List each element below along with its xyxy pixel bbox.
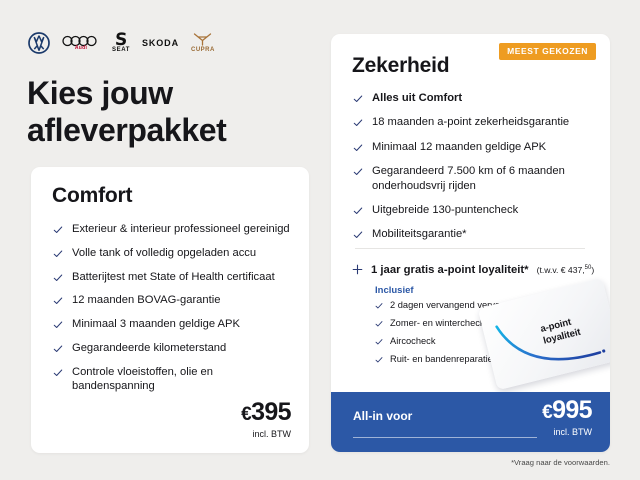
footer-rule	[353, 437, 537, 438]
comfort-card-title: Comfort	[52, 184, 132, 208]
plus-icon	[352, 262, 363, 273]
zekerheid-price-footer: All-in voor €995 incl. BTW	[331, 392, 610, 452]
loyalty-value-suffix: )	[591, 265, 594, 275]
allin-label: All-in voor	[353, 409, 412, 423]
zekerheid-package-card[interactable]: MEEST GEKOZEN Zekerheid Alles uit Comfor…	[331, 34, 610, 452]
list-item-label: Gegarandeerd 7.500 km of 6 maanden onder…	[372, 164, 595, 194]
list-item: Minimaal 3 maanden geldige APK	[53, 317, 291, 332]
zekerheid-price-block: €995 incl. BTW	[542, 398, 592, 437]
zekerheid-price-note: incl. BTW	[542, 427, 592, 437]
check-icon	[353, 118, 363, 128]
comfort-price: €395	[241, 400, 291, 425]
footnote: *Vraag naar de voorwaarden.	[511, 458, 610, 467]
list-item-label: Exterieur & interieur professioneel gere…	[72, 222, 290, 237]
currency-symbol: €	[241, 404, 251, 425]
loyalty-value-note: (t.w.v. € 437,50)	[537, 265, 595, 275]
check-icon	[353, 230, 363, 240]
check-icon	[375, 302, 383, 310]
check-icon	[375, 356, 383, 364]
comfort-price-amount: 395	[251, 398, 291, 426]
audi-wordmark: Audi	[75, 46, 87, 51]
list-item: Exterieur & interieur professioneel gere…	[53, 222, 291, 237]
list-item-label: Mobiliteitsgarantie*	[372, 227, 467, 242]
list-item: Volle tank of volledig opgeladen accu	[53, 246, 291, 261]
list-item-label: Minimaal 3 maanden geldige APK	[72, 317, 240, 332]
check-icon	[353, 143, 363, 153]
zekerheid-price: €995	[542, 398, 592, 423]
loyalty-card-graphic: a-point loyaliteit	[478, 278, 610, 390]
skoda-wordmark: SKODA	[142, 38, 179, 48]
list-item-label: Gegarandeerde kilometerstand	[72, 341, 226, 356]
volkswagen-logo	[28, 32, 50, 54]
page-title-line1: Kies jouw	[27, 75, 307, 112]
zekerheid-feature-list: Alles uit Comfort 18 maanden a-point zek…	[353, 91, 595, 251]
list-item: 18 maanden a-point zekerheidsgarantie	[353, 115, 595, 130]
seat-s-mark: S	[114, 33, 127, 47]
list-item-label: Batterijtest met State of Health certifi…	[72, 270, 275, 285]
inclusief-label: Inclusief	[375, 285, 414, 296]
list-item: Batterijtest met State of Health certifi…	[53, 270, 291, 285]
promo-poster: Audi S SEAT SKODA CUPRA Kies jouw afleve…	[0, 0, 640, 480]
page-title: Kies jouw afleverpakket	[27, 75, 307, 149]
list-item: Uitgebreide 130-puntencheck	[353, 203, 595, 218]
comfort-price-note: incl. BTW	[241, 429, 291, 439]
section-divider	[355, 248, 585, 249]
list-item: Mobiliteitsgarantie*	[353, 227, 595, 242]
check-icon	[353, 206, 363, 216]
comfort-package-card[interactable]: Comfort Exterieur & interieur profession…	[31, 167, 309, 453]
list-item-label: 12 maanden BOVAG-garantie	[72, 293, 220, 308]
check-icon	[53, 296, 63, 306]
page-title-line2: afleverpakket	[27, 112, 307, 149]
check-icon	[53, 273, 63, 283]
check-icon	[53, 368, 63, 378]
list-item-label: Alles uit Comfort	[372, 91, 462, 106]
comfort-feature-list: Exterieur & interieur professioneel gere…	[53, 222, 291, 403]
check-icon	[53, 249, 63, 259]
zekerheid-price-amount: 995	[552, 396, 592, 424]
brand-logo-bar: Audi S SEAT SKODA CUPRA	[28, 30, 215, 56]
list-item: Gegarandeerd 7.500 km of 6 maanden onder…	[353, 164, 595, 194]
list-item: Alles uit Comfort	[353, 91, 595, 106]
seat-logo: S SEAT	[112, 33, 130, 53]
check-icon	[353, 167, 363, 177]
list-item: Gegarandeerde kilometerstand	[53, 341, 291, 356]
cupra-wordmark: CUPRA	[191, 47, 215, 53]
loyalty-value-prefix: (t.w.v. € 437,	[537, 265, 585, 275]
audi-logo: Audi	[62, 35, 100, 51]
list-item-label: Volle tank of volledig opgeladen accu	[72, 246, 256, 261]
list-item-label: Aircocheck	[390, 336, 435, 348]
list-item: Minimaal 12 maanden geldige APK	[353, 140, 595, 155]
list-item-label: Controle vloeistoffen, olie en bandenspa…	[72, 365, 291, 395]
check-icon	[375, 338, 383, 346]
cupra-logo: CUPRA	[191, 33, 215, 53]
list-item-label: Ruit- en bandenreparatie	[390, 354, 493, 366]
list-item: Controle vloeistoffen, olie en bandenspa…	[53, 365, 291, 395]
check-icon	[353, 94, 363, 104]
list-item-label: 18 maanden a-point zekerheidsgarantie	[372, 115, 569, 130]
list-item: 12 maanden BOVAG-garantie	[53, 293, 291, 308]
check-icon	[53, 344, 63, 354]
status-badge: MEEST GEKOZEN	[499, 43, 596, 60]
comfort-price-block: €395 incl. BTW	[241, 400, 291, 439]
list-item-label: Minimaal 12 maanden geldige APK	[372, 140, 546, 155]
currency-symbol: €	[542, 402, 552, 423]
check-icon	[375, 320, 383, 328]
check-icon	[53, 320, 63, 330]
loyalty-headline-row: 1 jaar gratis a-point loyaliteit* (t.w.v…	[352, 260, 600, 276]
list-item-label: Uitgebreide 130-puntencheck	[372, 203, 518, 218]
skoda-logo: SKODA	[142, 38, 179, 48]
list-item-label: Zomer- en winterchecks	[390, 318, 489, 330]
loyalty-title: 1 jaar gratis a-point loyaliteit*	[371, 264, 529, 276]
zekerheid-card-title: Zekerheid	[352, 54, 449, 78]
check-icon	[53, 225, 63, 235]
